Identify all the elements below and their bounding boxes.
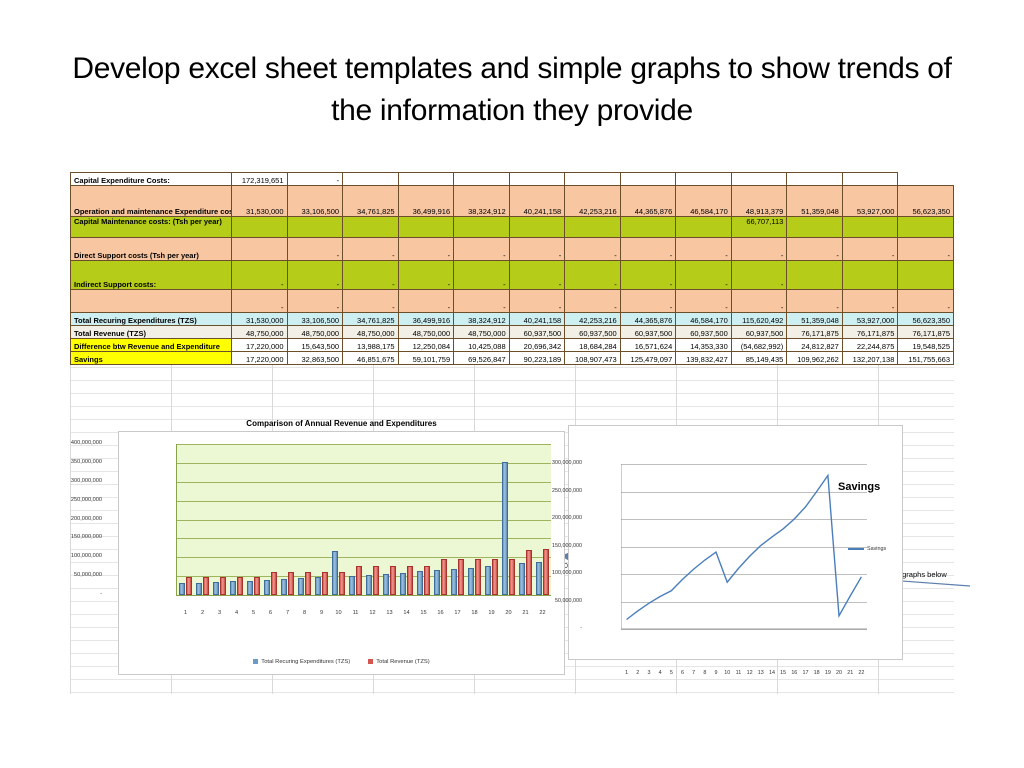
table-cell[interactable]: 76,171,875 xyxy=(898,326,954,339)
legend-swatch-savings xyxy=(848,548,864,550)
bar-revenue[interactable] xyxy=(458,559,464,595)
x-axis-tick-label: 2 xyxy=(194,610,212,616)
table-cell[interactable]: 19,548,525 xyxy=(898,339,954,352)
table-cell[interactable]: 53,927,000 xyxy=(842,186,898,217)
table-cell[interactable]: - xyxy=(343,238,399,261)
bar-revenue[interactable] xyxy=(441,559,447,595)
table-cell[interactable]: 139,832,427 xyxy=(676,352,732,365)
table-cell[interactable]: 18,684,284 xyxy=(565,339,621,352)
table-cell[interactable]: 31,530,000 xyxy=(232,313,288,326)
table-cell[interactable]: - xyxy=(509,238,565,261)
table-cell[interactable]: 48,750,000 xyxy=(454,326,510,339)
table-cell[interactable] xyxy=(898,261,954,290)
table-row[interactable]: Direct Support costs (Tsh per year)-----… xyxy=(71,238,954,261)
bar-revenue[interactable] xyxy=(424,566,430,595)
bar-group[interactable] xyxy=(502,444,515,595)
x-axis-tick-label: 22 xyxy=(534,610,552,616)
savings-line-series[interactable] xyxy=(621,464,867,629)
table-row-label: Capital Maintenance costs: (Tsh per year… xyxy=(71,217,232,238)
table-cell[interactable] xyxy=(731,173,787,186)
table-cell[interactable]: 32,863,500 xyxy=(287,352,343,365)
y-axis-tick-label: 300,000,000 xyxy=(522,460,582,466)
savings-chart-title: Savings xyxy=(838,481,880,493)
table-cell[interactable] xyxy=(787,217,843,238)
bar-expenditure[interactable] xyxy=(451,569,457,595)
table-cell[interactable]: - xyxy=(731,290,787,313)
bar-group[interactable] xyxy=(230,444,243,595)
table-cell[interactable]: 16,571,624 xyxy=(620,339,676,352)
bar-expenditure[interactable] xyxy=(502,462,508,595)
bar-chart-title: Comparison of Annual Revenue and Expendi… xyxy=(119,419,564,428)
gridline xyxy=(621,629,867,630)
table-row[interactable]: Total Revenue (TZS)48,750,00048,750,0004… xyxy=(71,326,954,339)
bar-revenue[interactable] xyxy=(339,572,345,595)
table-cell[interactable]: 17,220,000 xyxy=(232,352,288,365)
table-cell[interactable]: 17,220,000 xyxy=(232,339,288,352)
table-cell[interactable]: - xyxy=(343,290,399,313)
y-axis-tick-label: 250,000,000 xyxy=(32,497,102,503)
table-cell[interactable]: 24,812,827 xyxy=(787,339,843,352)
x-axis-tick-label: 13 xyxy=(381,610,399,616)
table-cell[interactable]: 51,359,048 xyxy=(787,313,843,326)
table-cell[interactable]: 69,526,847 xyxy=(454,352,510,365)
y-axis-tick-label: 150,000,000 xyxy=(32,534,102,540)
financial-data-table[interactable]: Capital Expenditure Costs:172,319,651-Op… xyxy=(70,172,954,365)
bar-revenue[interactable] xyxy=(220,577,226,595)
table-cell[interactable]: 42,253,216 xyxy=(565,186,621,217)
bar-expenditure[interactable] xyxy=(519,563,525,595)
bar-revenue[interactable] xyxy=(254,577,260,595)
bar-group[interactable] xyxy=(451,444,464,595)
table-cell[interactable]: 20,696,342 xyxy=(509,339,565,352)
comparison-bar-chart[interactable]: Comparison of Annual Revenue and Expendi… xyxy=(118,431,565,675)
x-axis-tick-label: 12 xyxy=(364,610,382,616)
x-axis-tick-label: 20 xyxy=(500,610,518,616)
table-row-label: Operation and maintenance Expenditure co… xyxy=(71,186,232,217)
x-axis-tick-label: 21 xyxy=(517,610,535,616)
bar-revenue[interactable] xyxy=(492,559,498,595)
table-row-label: Total Revenue (TZS) xyxy=(71,326,232,339)
table-cell[interactable]: - xyxy=(232,290,288,313)
y-axis-tick-label: 250,000,000 xyxy=(522,488,582,494)
table-cell[interactable]: 36,499,916 xyxy=(398,186,454,217)
table-cell[interactable]: 22,244,875 xyxy=(842,339,898,352)
x-axis-tick-label: 1 xyxy=(177,610,195,616)
table-cell[interactable]: 34,761,825 xyxy=(343,186,399,217)
line-chart-plot-area: 300,000,000250,000,000200,000,000150,000… xyxy=(621,464,867,629)
table-cell[interactable] xyxy=(509,173,565,186)
x-axis-tick-label: 15 xyxy=(415,610,433,616)
table-cell[interactable]: 59,101,759 xyxy=(398,352,454,365)
table-cell[interactable]: - xyxy=(398,290,454,313)
table-cell[interactable] xyxy=(398,217,454,238)
bar-expenditure[interactable] xyxy=(383,574,389,595)
table-cell[interactable] xyxy=(343,217,399,238)
table-cell[interactable]: 40,241,158 xyxy=(509,186,565,217)
x-axis-tick-label: 18 xyxy=(466,610,484,616)
table-cell[interactable]: - xyxy=(287,290,343,313)
table-cell[interactable]: - xyxy=(509,261,565,290)
table-cell[interactable]: - xyxy=(287,173,343,186)
table-cell[interactable]: 10,425,088 xyxy=(454,339,510,352)
bar-expenditure[interactable] xyxy=(281,579,287,595)
x-axis-tick-label: 6 xyxy=(262,610,280,616)
bar-revenue[interactable] xyxy=(373,566,379,595)
table-cell[interactable]: 76,171,875 xyxy=(787,326,843,339)
bar-expenditure[interactable] xyxy=(213,582,219,595)
x-axis-tick-label: 3 xyxy=(211,610,229,616)
table-cell[interactable]: 51,359,048 xyxy=(787,186,843,217)
table-cell[interactable]: 46,584,170 xyxy=(676,313,732,326)
table-cell[interactable]: 151,755,663 xyxy=(898,352,954,365)
legend-label-savings: Savings xyxy=(867,546,886,552)
table-cell[interactable]: - xyxy=(454,238,510,261)
table-row-label: Direct Support costs (Tsh per year) xyxy=(71,238,232,261)
y-axis-tick-label: - xyxy=(522,625,582,631)
bar-revenue[interactable] xyxy=(305,572,311,595)
table-cell[interactable]: 56,623,350 xyxy=(898,313,954,326)
table-cell[interactable]: - xyxy=(565,290,621,313)
table-cell[interactable]: 33,106,500 xyxy=(287,186,343,217)
table-cell[interactable]: - xyxy=(565,238,621,261)
bar-expenditure[interactable] xyxy=(417,571,423,595)
table-cell[interactable]: 48,750,000 xyxy=(232,326,288,339)
bar-chart-legend: Total Recuring Expenditures (TZS)Total R… xyxy=(119,659,564,665)
legend-label: Total Recuring Expenditures (TZS) xyxy=(261,659,350,665)
table-cell[interactable]: - xyxy=(620,261,676,290)
bar-expenditure[interactable] xyxy=(315,577,321,595)
table-cell[interactable]: - xyxy=(731,261,787,290)
bar-group[interactable] xyxy=(485,444,498,595)
x-axis-tick-label: 4 xyxy=(228,610,246,616)
x-axis-tick-label: 11 xyxy=(347,610,365,616)
table-cell[interactable]: 48,750,000 xyxy=(287,326,343,339)
bar-revenue[interactable] xyxy=(390,566,396,595)
table-cell[interactable]: 76,171,875 xyxy=(842,326,898,339)
table-cell[interactable]: - xyxy=(509,290,565,313)
table-cell[interactable]: 60,937,500 xyxy=(620,326,676,339)
bar-expenditure[interactable] xyxy=(349,576,355,595)
bar-expenditure[interactable] xyxy=(468,568,474,595)
table-cell[interactable]: 44,365,876 xyxy=(620,313,676,326)
table-cell[interactable] xyxy=(842,261,898,290)
y-axis-tick-label: 150,000,000 xyxy=(522,543,582,549)
bar-expenditure[interactable] xyxy=(536,562,542,595)
table-cell[interactable]: 46,851,675 xyxy=(343,352,399,365)
bar-group[interactable] xyxy=(196,444,209,595)
table-row[interactable]: Difference btw Revenue and Expenditure17… xyxy=(71,339,954,352)
table-cell[interactable]: - xyxy=(787,238,843,261)
table-cell[interactable]: 125,479,097 xyxy=(620,352,676,365)
table-cell[interactable]: - xyxy=(731,238,787,261)
bar-group[interactable] xyxy=(383,444,396,595)
bar-group[interactable] xyxy=(417,444,430,595)
x-axis-tick-label: 17 xyxy=(449,610,467,616)
table-cell[interactable] xyxy=(509,217,565,238)
y-axis-tick-label: 50,000,000 xyxy=(522,598,582,604)
table-cell[interactable]: - xyxy=(398,261,454,290)
savings-line-chart[interactable]: 300,000,000250,000,000200,000,000150,000… xyxy=(568,425,903,660)
bar-revenue[interactable] xyxy=(509,559,515,595)
x-axis-tick-label: 16 xyxy=(432,610,450,616)
table-cell[interactable]: 115,620,492 xyxy=(731,313,787,326)
x-axis-tick-label: 5 xyxy=(245,610,263,616)
table-row-label: Total Recuring Expenditures (TZS) xyxy=(71,313,232,326)
legend-swatch xyxy=(253,659,258,664)
table-cell[interactable]: 85,149,435 xyxy=(731,352,787,365)
bar-revenue[interactable] xyxy=(475,559,481,595)
table-row-label: Capital Expenditure Costs: xyxy=(71,173,232,186)
table-cell[interactable]: - xyxy=(842,290,898,313)
x-axis-tick-label: 19 xyxy=(483,610,501,616)
page-title: Develop excel sheet templates and simple… xyxy=(60,48,964,132)
table-cell[interactable]: - xyxy=(898,238,954,261)
table-cell[interactable] xyxy=(676,173,732,186)
table-cell[interactable] xyxy=(620,173,676,186)
table-cell[interactable]: 42,253,216 xyxy=(565,313,621,326)
table-row[interactable]: ------------- xyxy=(71,290,954,313)
legend-item: Total Recuring Expenditures (TZS) xyxy=(253,659,350,665)
table-cell[interactable]: 60,937,500 xyxy=(509,326,565,339)
bar-expenditure[interactable] xyxy=(179,583,185,595)
table-cell[interactable]: 40,241,158 xyxy=(509,313,565,326)
legend-swatch xyxy=(368,659,373,664)
table-cell[interactable] xyxy=(454,173,510,186)
table-cell[interactable]: - xyxy=(454,290,510,313)
bar-revenue[interactable] xyxy=(237,577,243,595)
table-cell[interactable] xyxy=(676,217,732,238)
table-cell[interactable] xyxy=(565,173,621,186)
bar-revenue[interactable] xyxy=(407,566,413,595)
bar-group[interactable] xyxy=(213,444,226,595)
table-cell[interactable] xyxy=(842,217,898,238)
bar-expenditure[interactable] xyxy=(264,580,270,595)
table-cell[interactable]: - xyxy=(676,261,732,290)
table-cell[interactable]: 12,250,084 xyxy=(398,339,454,352)
y-axis-tick-label: 350,000,000 xyxy=(32,459,102,465)
table-cell[interactable]: 36,499,916 xyxy=(398,313,454,326)
table-cell[interactable]: - xyxy=(898,290,954,313)
table-cell[interactable]: - xyxy=(676,238,732,261)
bar-revenue[interactable] xyxy=(186,577,192,595)
table-cell[interactable]: 56,623,350 xyxy=(898,186,954,217)
bar-group[interactable] xyxy=(400,444,413,595)
table-cell[interactable]: 15,643,500 xyxy=(287,339,343,352)
table-cell[interactable]: 172,319,651 xyxy=(232,173,288,186)
table-cell[interactable] xyxy=(232,217,288,238)
bar-expenditure[interactable] xyxy=(196,583,202,595)
bar-expenditure[interactable] xyxy=(247,581,253,595)
y-axis-tick-label: 300,000,000 xyxy=(32,478,102,484)
x-axis-tick-label: 9 xyxy=(313,610,331,616)
table-cell[interactable]: - xyxy=(620,238,676,261)
table-cell[interactable] xyxy=(398,173,454,186)
table-cell[interactable] xyxy=(787,261,843,290)
table-row[interactable]: Capital Maintenance costs: (Tsh per year… xyxy=(71,217,954,238)
table-row[interactable]: Total Recuring Expenditures (TZS)31,530,… xyxy=(71,313,954,326)
table-cell[interactable]: - xyxy=(454,261,510,290)
table-cell[interactable]: 90,223,189 xyxy=(509,352,565,365)
table-cell[interactable]: 14,353,330 xyxy=(676,339,732,352)
table-cell[interactable]: 132,207,138 xyxy=(842,352,898,365)
bar-revenue[interactable] xyxy=(322,572,328,595)
table-row[interactable]: Savings17,220,00032,863,50046,851,67559,… xyxy=(71,352,954,365)
x-axis-tick-label: 10 xyxy=(330,610,348,616)
bar-group[interactable] xyxy=(349,444,362,595)
table-cell[interactable]: 48,750,000 xyxy=(398,326,454,339)
x-axis-tick-label: 22 xyxy=(854,670,868,676)
table-cell[interactable]: 109,962,262 xyxy=(787,352,843,365)
table-cell[interactable]: 60,937,500 xyxy=(731,326,787,339)
bar-expenditure[interactable] xyxy=(298,578,304,595)
bar-expenditure[interactable] xyxy=(400,573,406,595)
table-cell[interactable] xyxy=(287,217,343,238)
bar-expenditure[interactable] xyxy=(230,581,236,595)
table-row-label xyxy=(71,290,232,313)
table-cell[interactable]: 38,324,912 xyxy=(454,186,510,217)
x-axis-tick-label: 8 xyxy=(296,610,314,616)
x-axis-tick-label: 14 xyxy=(398,610,416,616)
table-cell[interactable] xyxy=(620,217,676,238)
y-axis-tick-label: 400,000,000 xyxy=(32,440,102,446)
table-cell[interactable] xyxy=(232,238,288,261)
y-axis-tick-label: 100,000,000 xyxy=(32,553,102,559)
bar-group[interactable] xyxy=(315,444,328,595)
table-cell[interactable]: - xyxy=(620,290,676,313)
table-cell[interactable]: - xyxy=(398,238,454,261)
table-cell[interactable]: - xyxy=(343,261,399,290)
table-cell[interactable] xyxy=(565,217,621,238)
legend-label: Total Revenue (TZS) xyxy=(376,659,429,665)
table-row[interactable]: Operation and maintenance Expenditure co… xyxy=(71,186,954,217)
table-cell[interactable]: 108,907,473 xyxy=(565,352,621,365)
table-cell[interactable]: - xyxy=(787,290,843,313)
table-cell[interactable]: 48,750,000 xyxy=(343,326,399,339)
bar-expenditure[interactable] xyxy=(366,575,372,595)
table-cell[interactable] xyxy=(343,173,399,186)
table-cell[interactable]: 60,937,500 xyxy=(676,326,732,339)
table-cell[interactable]: (54,682,992) xyxy=(731,339,787,352)
legend-item: Total Revenue (TZS) xyxy=(368,659,429,665)
bar-revenue[interactable] xyxy=(356,566,362,595)
x-axis-tick-label: 7 xyxy=(279,610,297,616)
table-cell[interactable]: - xyxy=(287,261,343,290)
table-cell[interactable]: 48,913,379 xyxy=(731,186,787,217)
bar-chart-plot-area: 400,000,000350,000,000300,000,000250,000… xyxy=(176,444,551,596)
table-cell[interactable] xyxy=(898,217,954,238)
table-cell[interactable] xyxy=(787,173,843,186)
bar-expenditure[interactable] xyxy=(332,551,338,595)
y-axis-tick-label: 200,000,000 xyxy=(522,515,582,521)
table-cell[interactable]: - xyxy=(676,290,732,313)
table-cell[interactable]: 34,761,825 xyxy=(343,313,399,326)
bar-revenue[interactable] xyxy=(203,577,209,595)
bar-group[interactable] xyxy=(434,444,447,595)
table-row[interactable]: Indirect Support costs:---------- xyxy=(71,261,954,290)
bar-group[interactable] xyxy=(179,444,192,595)
table-cell[interactable]: 46,584,170 xyxy=(676,186,732,217)
table-cell[interactable] xyxy=(454,217,510,238)
table-cell[interactable]: 53,927,000 xyxy=(842,313,898,326)
bar-group[interactable] xyxy=(281,444,294,595)
table-cell[interactable]: 38,324,912 xyxy=(454,313,510,326)
bar-revenue[interactable] xyxy=(271,572,277,595)
bar-group[interactable] xyxy=(366,444,379,595)
bar-expenditure[interactable] xyxy=(434,570,440,595)
table-cell[interactable]: - xyxy=(232,261,288,290)
bar-group[interactable] xyxy=(332,444,345,595)
table-row-label: Difference btw Revenue and Expenditure xyxy=(71,339,232,352)
table-cell[interactable]: 13,988,175 xyxy=(343,339,399,352)
bar-group[interactable] xyxy=(264,444,277,595)
bar-group[interactable] xyxy=(298,444,311,595)
table-cell[interactable]: - xyxy=(565,261,621,290)
table-cell[interactable]: - xyxy=(287,238,343,261)
table-cell[interactable]: 31,530,000 xyxy=(232,186,288,217)
bar-revenue[interactable] xyxy=(288,572,294,595)
table-row-label: Indirect Support costs: xyxy=(71,261,232,290)
y-axis-tick-label: 200,000,000 xyxy=(32,516,102,522)
table-row[interactable]: Capital Expenditure Costs:172,319,651- xyxy=(71,173,954,186)
table-row-label: Savings xyxy=(71,352,232,365)
bar-expenditure[interactable] xyxy=(485,566,491,595)
table-cell[interactable]: 33,106,500 xyxy=(287,313,343,326)
line-chart-legend: Savings xyxy=(848,546,886,552)
bar-group[interactable] xyxy=(247,444,260,595)
y-axis-tick-label: 50,000,000 xyxy=(32,572,102,578)
table-cell[interactable]: 60,937,500 xyxy=(565,326,621,339)
table-cell[interactable]: 44,365,876 xyxy=(620,186,676,217)
table-cell[interactable]: - xyxy=(842,238,898,261)
table-cell[interactable] xyxy=(842,173,898,186)
bar-group[interactable] xyxy=(468,444,481,595)
y-axis-tick-label: 100,000,000 xyxy=(522,570,582,576)
table-cell[interactable]: 66,707,113 xyxy=(731,217,787,238)
y-axis-tick-label: - xyxy=(32,591,102,597)
